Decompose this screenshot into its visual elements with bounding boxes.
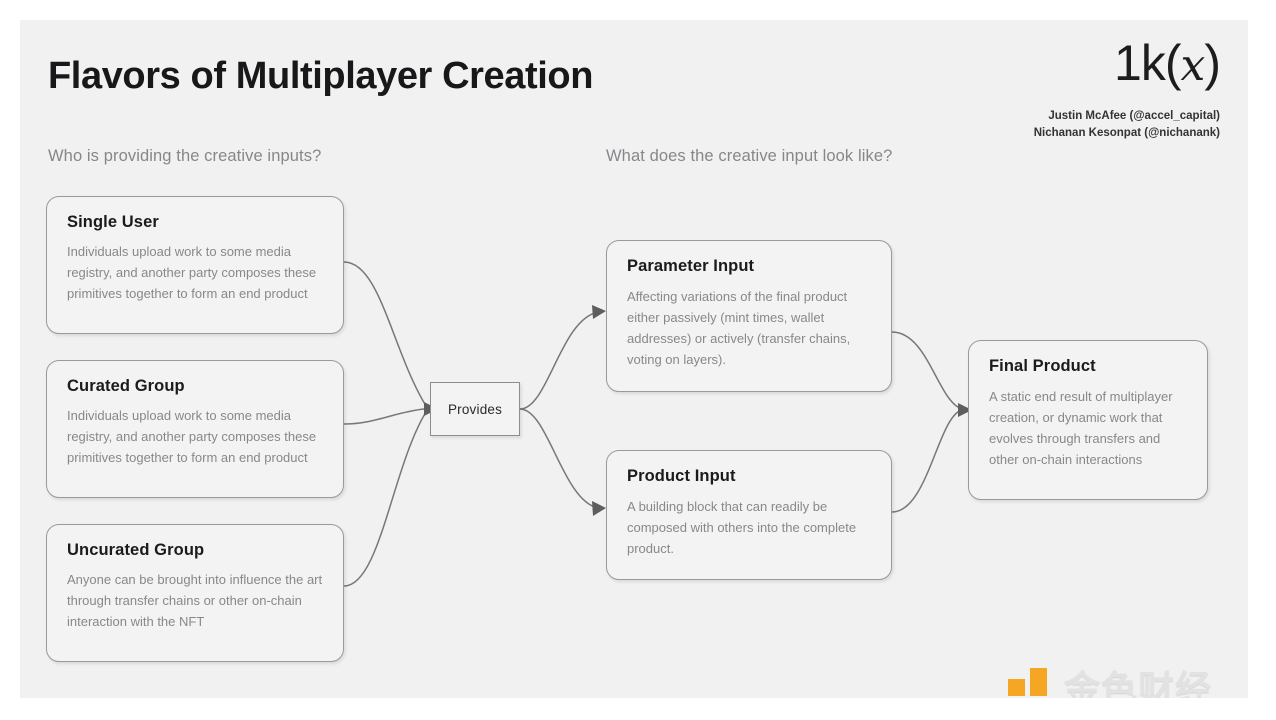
card-final-product-body: A static end result of multiplayer creat… — [989, 386, 1187, 470]
logo-variable: x — [1181, 40, 1205, 91]
byline-author-2: Nichanan Kesonpat (@nichanank) — [1034, 125, 1220, 142]
section-header-outputs: What does the creative input look like? — [606, 147, 892, 166]
edge-parameter-input-to-final-product — [892, 332, 962, 409]
card-single-user-body: Individuals upload work to some media re… — [67, 241, 323, 304]
card-parameter-input-body: Affecting variations of the final produc… — [627, 286, 871, 370]
edge-single-user-to-provides — [344, 262, 426, 406]
slide-canvas: Flavors of Multiplayer Creation 1k(x) Ju… — [20, 20, 1248, 698]
provides-node[interactable]: Provides — [430, 382, 520, 436]
arrowhead-product-input — [592, 501, 606, 516]
card-single-user[interactable]: Single User Individuals upload work to s… — [46, 196, 344, 334]
card-uncurated-group[interactable]: Uncurated Group Anyone can be brought in… — [46, 524, 344, 662]
card-product-input-body: A building block that can readily be com… — [627, 496, 871, 559]
watermark-text: 金色财经 — [1064, 672, 1212, 698]
edge-provides-to-parameter-input — [520, 312, 598, 409]
card-curated-group-title: Curated Group — [67, 377, 323, 396]
page-title: Flavors of Multiplayer Creation — [48, 55, 593, 98]
card-product-input-title: Product Input — [627, 467, 871, 486]
watermark: 金色财经 — [1008, 668, 1212, 698]
card-parameter-input[interactable]: Parameter Input Affecting variations of … — [606, 240, 892, 392]
section-header-inputs: Who is providing the creative inputs? — [48, 147, 321, 166]
brand-logo: 1k(x) — [1114, 38, 1220, 88]
card-product-input[interactable]: Product Input A building block that can … — [606, 450, 892, 580]
edge-product-input-to-final-product — [892, 410, 962, 512]
watermark-logo-icon — [1008, 668, 1052, 698]
edge-curated-group-to-provides — [344, 409, 424, 424]
card-final-product[interactable]: Final Product A static end result of mul… — [968, 340, 1208, 500]
logo-suffix: ) — [1204, 35, 1220, 91]
edge-uncurated-group-to-provides — [344, 412, 426, 586]
byline-author-1: Justin McAfee (@accel_capital) — [1034, 108, 1220, 125]
provides-label: Provides — [448, 402, 502, 417]
card-curated-group[interactable]: Curated Group Individuals upload work to… — [46, 360, 344, 498]
card-curated-group-body: Individuals upload work to some media re… — [67, 405, 323, 468]
card-uncurated-group-body: Anyone can be brought into influence the… — [67, 569, 323, 632]
card-parameter-input-title: Parameter Input — [627, 257, 871, 276]
arrowhead-parameter-input — [592, 305, 606, 319]
edge-provides-to-product-input — [520, 409, 598, 508]
byline: Justin McAfee (@accel_capital) Nichanan … — [1034, 108, 1220, 141]
card-single-user-title: Single User — [67, 213, 323, 232]
card-uncurated-group-title: Uncurated Group — [67, 541, 323, 560]
logo-prefix: 1k( — [1114, 35, 1180, 91]
card-final-product-title: Final Product — [989, 357, 1187, 376]
